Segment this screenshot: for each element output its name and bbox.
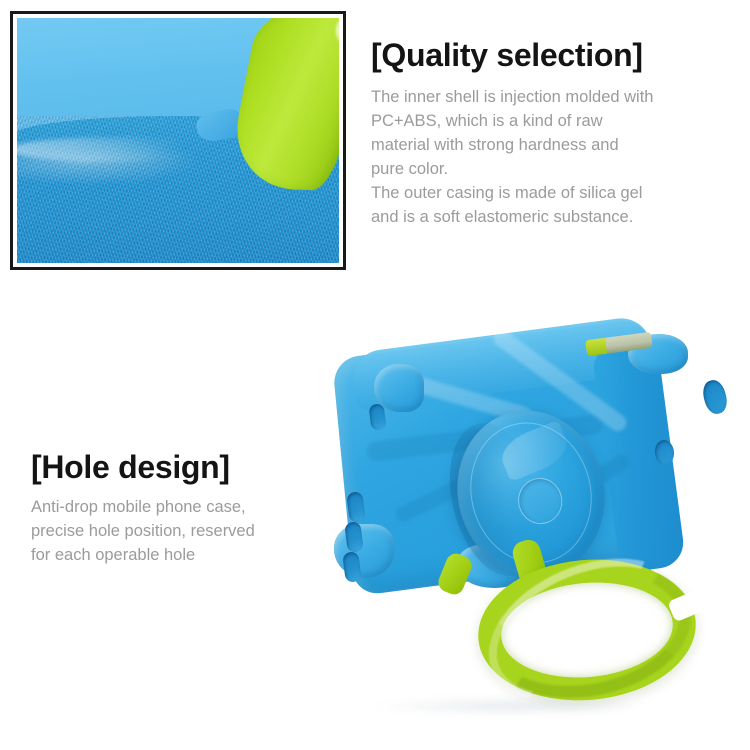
quality-paragraph-line: material with strong hardness and bbox=[371, 133, 733, 157]
detail-photo-image bbox=[17, 18, 339, 263]
green-accent-highlight bbox=[333, 18, 339, 49]
port-hole bbox=[700, 378, 730, 416]
quality-paragraph-line: The outer casing is made of silica gel bbox=[371, 181, 733, 205]
quality-paragraph-line: pure color. bbox=[371, 157, 733, 181]
hole-design-section: [Hole design] Anti-drop mobile phone cas… bbox=[31, 450, 331, 567]
product-photo-stage bbox=[330, 332, 750, 732]
hole-paragraph-line: Anti-drop mobile phone case, bbox=[31, 495, 331, 519]
quality-paragraph-line: PC+ABS, which is a kind of raw bbox=[371, 109, 733, 133]
green-ring-handle bbox=[472, 551, 701, 709]
product-photo bbox=[330, 332, 750, 732]
quality-selection-section: [Quality selection] The inner shell is i… bbox=[371, 38, 733, 229]
quality-paragraph-line: The inner shell is injection molded with bbox=[371, 85, 733, 109]
hole-paragraph-line: for each operable hole bbox=[31, 543, 331, 567]
hole-design-heading: [Hole design] bbox=[31, 450, 331, 486]
quality-paragraph-line: and is a soft elastomeric substance. bbox=[371, 205, 733, 229]
corner-bumper bbox=[334, 524, 394, 578]
hole-paragraph-line: precise hole position, reserved bbox=[31, 519, 331, 543]
detail-photo-frame bbox=[10, 11, 346, 270]
notch-green-edge bbox=[585, 338, 607, 356]
quality-selection-heading: [Quality selection] bbox=[371, 38, 733, 74]
